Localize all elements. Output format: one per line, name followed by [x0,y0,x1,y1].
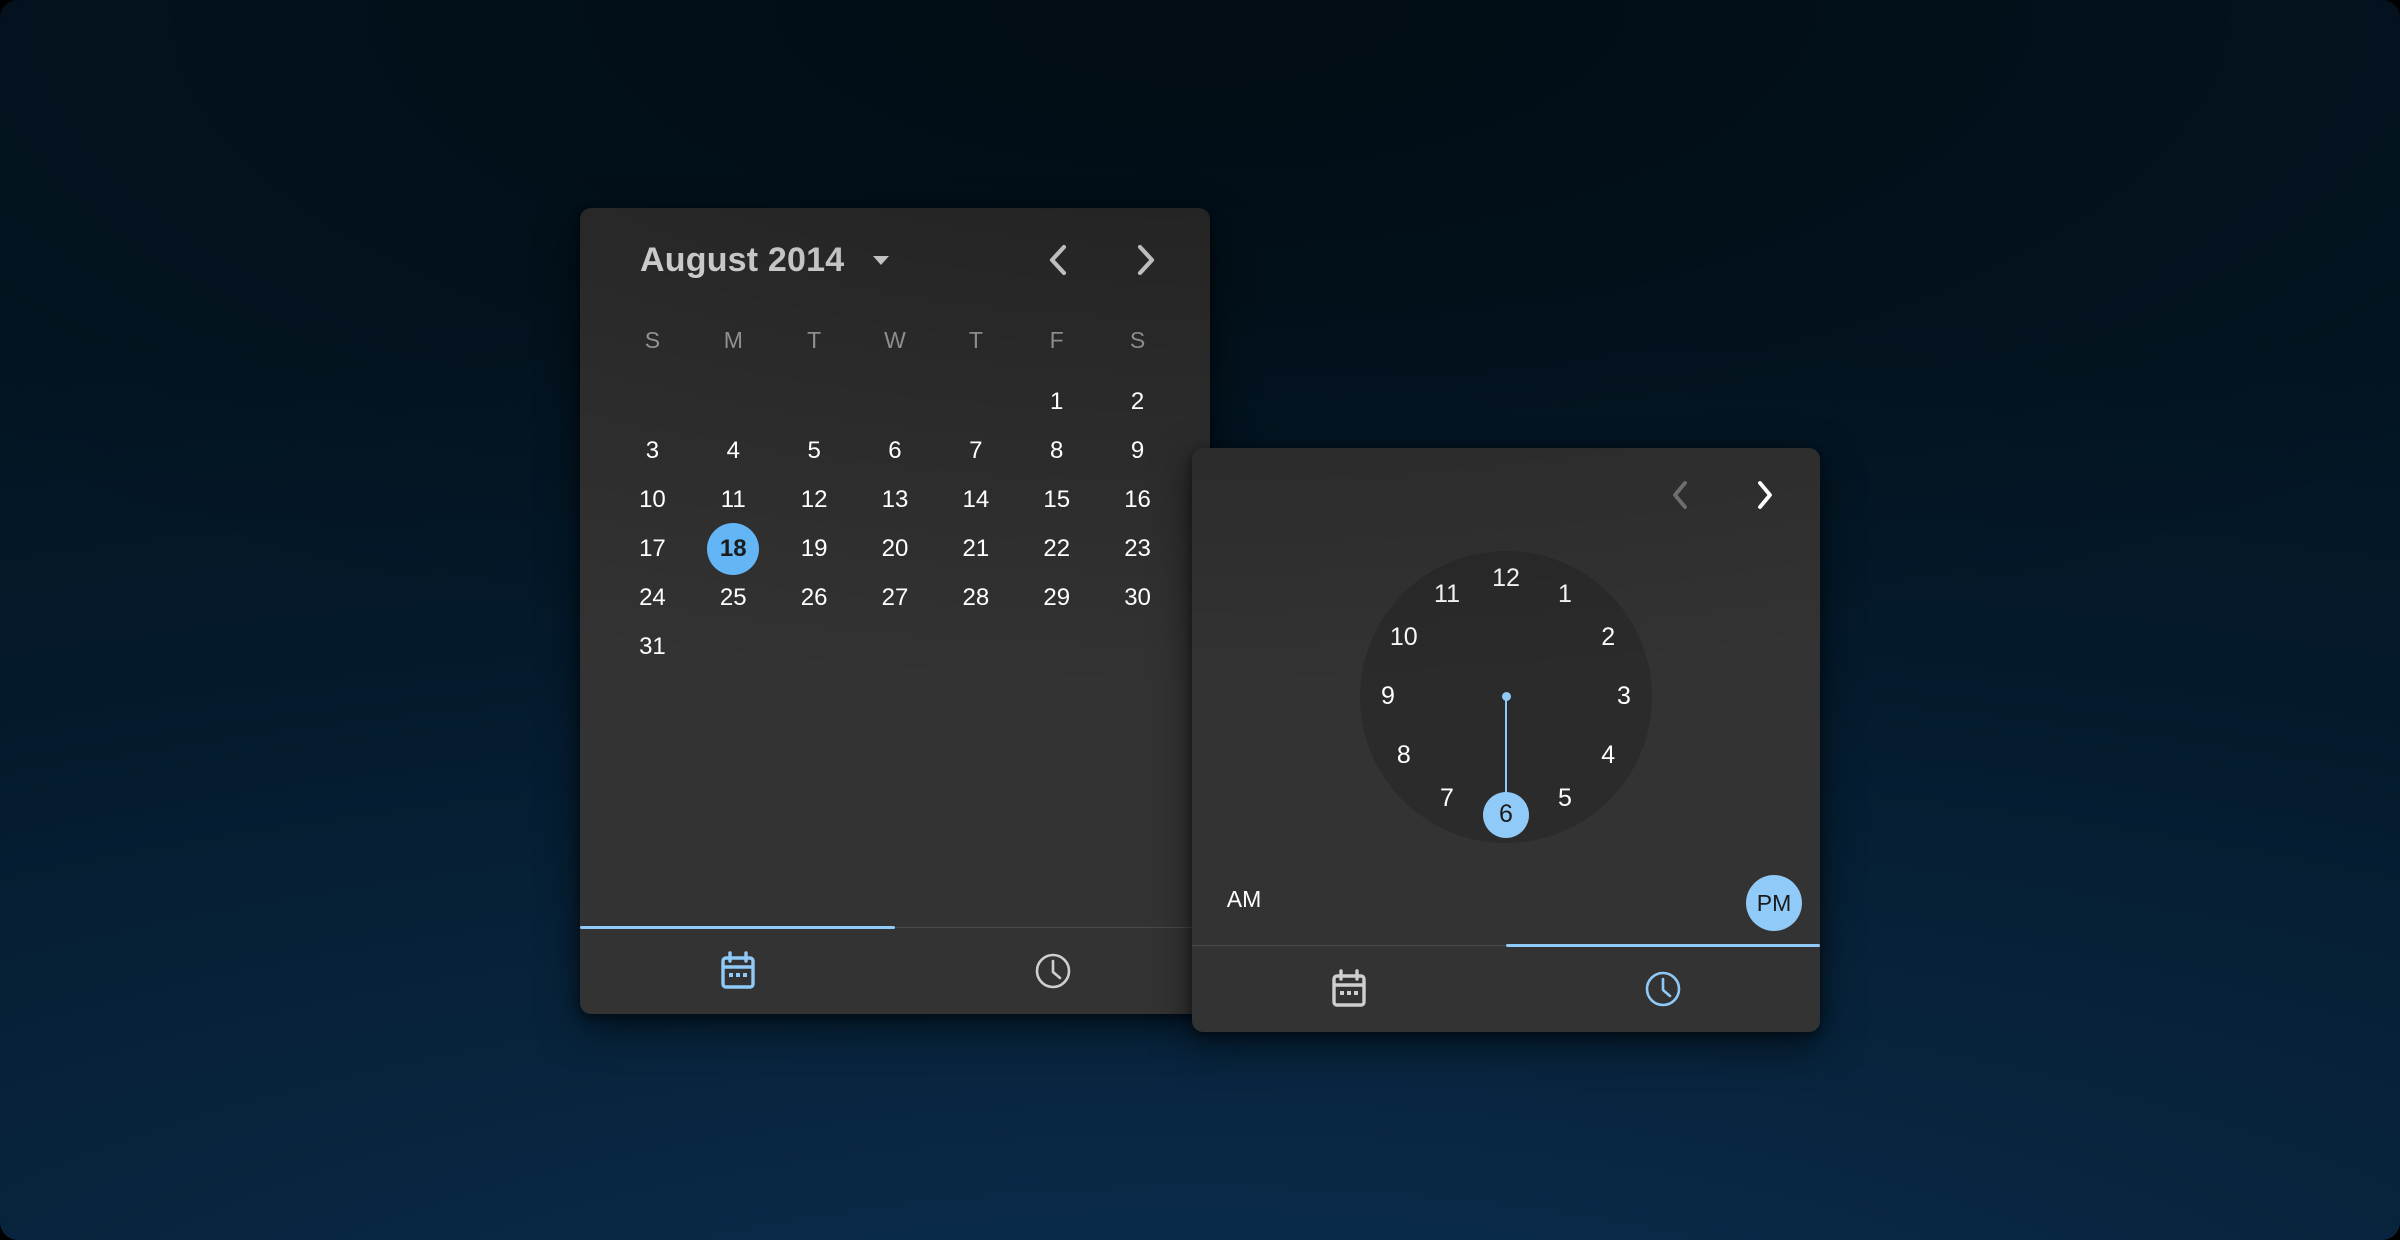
calendar-day-label [788,621,840,673]
clock-hour-label: 8 [1397,741,1411,770]
pm-button[interactable]: PM [1746,875,1802,931]
clock-hour-label: 1 [1558,580,1572,609]
clock-hour-1[interactable]: 1 [1542,571,1588,617]
desktop-backdrop: August 2014 SMTWTFS 12345678910111213141… [0,0,2400,1240]
clock-hour-6[interactable]: 6 [1483,792,1529,838]
calendar-icon [719,951,757,991]
calendar-day-cell[interactable]: 23 [1097,523,1178,575]
calendar-day-cell[interactable]: 9 [1097,425,1178,477]
calendar-day-empty [612,376,693,428]
calendar-day-cell[interactable]: 10 [612,474,693,526]
calendar-day-label: 22 [1031,523,1083,575]
clock-hour-label: 6 [1499,800,1513,829]
am-label: AM [1227,886,1262,913]
calendar-month-year-label: August 2014 [640,241,844,280]
calendar-day-label: 19 [788,523,840,575]
tab-clock[interactable] [895,928,1210,1014]
clock-hour-12[interactable]: 12 [1483,556,1529,602]
calendar-day-cell[interactable]: 31 [612,621,693,673]
calendar-day-cell[interactable]: 19 [774,523,855,575]
calendar-day-label [869,621,921,673]
weekday-label: F [1016,312,1097,368]
clock-hour-11[interactable]: 11 [1424,571,1470,617]
calendar-week-row: 3456789 [580,425,1210,474]
date-picker-dialog: August 2014 SMTWTFS 12345678910111213141… [580,208,1210,1014]
weekday-label: T [935,312,1016,368]
calendar-day-label: 3 [626,425,678,477]
calendar-day-label: 6 [869,425,921,477]
clock-hour-7[interactable]: 7 [1424,776,1470,822]
calendar-day-label: 4 [707,425,759,477]
clock-hour-label: 9 [1381,682,1395,711]
clock-face[interactable]: 121234567891011 [1360,551,1652,843]
calendar-day-cell[interactable]: 3 [612,425,693,477]
clock-hour-label: 10 [1390,623,1418,652]
calendar-day-label: 9 [1112,425,1164,477]
calendar-day-empty [693,376,774,428]
calendar-day-cell[interactable]: 7 [935,425,1016,477]
calendar-day-cell[interactable]: 29 [1016,572,1097,624]
calendar-day-cell[interactable]: 27 [855,572,936,624]
calendar-day-cell[interactable]: 12 [774,474,855,526]
clock-hour-label: 12 [1492,564,1520,593]
calendar-day-label: 11 [707,474,759,526]
weekday-label: S [612,312,693,368]
clock-hour-label: 4 [1601,741,1615,770]
calendar-bottom-spacer [580,670,1210,927]
calendar-day-label: 12 [788,474,840,526]
calendar-day-label: 29 [1031,572,1083,624]
calendar-day-label: 24 [626,572,678,624]
clock-icon [1643,969,1683,1009]
calendar-day-label: 7 [950,425,1002,477]
chevron-down-icon[interactable] [870,249,892,271]
calendar-day-label: 16 [1112,474,1164,526]
calendar-day-label: 26 [788,572,840,624]
calendar-day-empty [1016,621,1097,673]
calendar-day-label: 17 [626,523,678,575]
clock-hour-label: 2 [1601,623,1615,652]
calendar-week-row: 17181920212223 [580,523,1210,572]
calendar-day-cell[interactable]: 17 [612,523,693,575]
calendar-week-row: 31 [580,621,1210,670]
calendar-day-label: 10 [626,474,678,526]
calendar-day-cell[interactable]: 16 [1097,474,1178,526]
previous-time-button[interactable] [1652,466,1710,524]
calendar-day-label: 27 [869,572,921,624]
pm-label: PM [1757,890,1792,917]
calendar-day-empty [1097,621,1178,673]
calendar-day-cell[interactable]: 8 [1016,425,1097,477]
calendar-header: August 2014 [580,208,1210,312]
calendar-day-label [707,376,759,428]
calendar-day-empty [855,621,936,673]
tab-calendar[interactable] [1192,946,1506,1032]
calendar-day-cell[interactable]: 4 [693,425,774,477]
calendar-day-cell[interactable]: 22 [1016,523,1097,575]
calendar-day-cell[interactable]: 30 [1097,572,1178,624]
calendar-day-label [1031,621,1083,673]
clock-hour-2[interactable]: 2 [1585,615,1631,661]
calendar-day-cell[interactable]: 5 [774,425,855,477]
calendar-day-cell[interactable]: 26 [774,572,855,624]
calendar-day-label: 30 [1112,572,1164,624]
calendar-day-label [1112,621,1164,673]
clock-hour-8[interactable]: 8 [1381,733,1427,779]
clock-hour-label: 7 [1440,784,1454,813]
calendar-day-label: 2 [1112,376,1164,428]
calendar-day-empty [935,376,1016,428]
tab-calendar[interactable] [580,928,895,1014]
calendar-day-label: 14 [950,474,1002,526]
calendar-day-label [707,621,759,673]
calendar-icon [1330,969,1368,1009]
weekday-header-row: SMTWTFS [580,312,1210,368]
calendar-day-cell[interactable]: 1 [1016,376,1097,428]
calendar-day-label: 21 [950,523,1002,575]
calendar-week-row: 24252627282930 [580,572,1210,621]
calendar-day-grid: 1234567891011121314151617181920212223242… [580,368,1210,670]
calendar-day-cell[interactable]: 20 [855,523,936,575]
calendar-day-label [626,376,678,428]
clock-hour-4[interactable]: 4 [1585,733,1631,779]
calendar-day-cell[interactable]: 11 [693,474,774,526]
calendar-day-cell[interactable]: 25 [693,572,774,624]
calendar-day-cell[interactable]: 14 [935,474,1016,526]
calendar-day-cell[interactable]: 2 [1097,376,1178,428]
clock-hour-10[interactable]: 10 [1381,615,1427,661]
weekday-label: W [855,312,936,368]
calendar-day-label: 5 [788,425,840,477]
clock-hour-5[interactable]: 5 [1542,776,1588,822]
calendar-day-label [950,621,1002,673]
calendar-day-cell[interactable]: 24 [612,572,693,624]
next-time-button[interactable] [1736,466,1794,524]
calendar-day-label: 23 [1112,523,1164,575]
calendar-day-label: 15 [1031,474,1083,526]
tab-active-indicator [580,926,895,929]
calendar-day-empty [693,621,774,673]
clock-hour-label: 11 [1434,580,1460,609]
time-picker-tabstrip [1192,945,1820,1032]
date-picker-tabstrip [580,927,1210,1014]
calendar-day-label: 25 [707,572,759,624]
calendar-day-label: 18 [707,523,759,575]
calendar-day-label: 1 [1031,376,1083,428]
clock-icon [1033,951,1073,991]
calendar-day-label [950,376,1002,428]
clock-area: 121234567891011 AM PM [1192,448,1820,945]
weekday-label: S [1097,312,1178,368]
calendar-day-empty [935,621,1016,673]
calendar-day-cell[interactable]: 6 [855,425,936,477]
clock-hour-label: 3 [1617,682,1631,711]
calendar-day-empty [774,621,855,673]
calendar-day-label: 8 [1031,425,1083,477]
clock-navigation [1652,466,1794,524]
calendar-week-row: 12 [580,376,1210,425]
calendar-day-label: 31 [626,621,678,673]
calendar-day-cell[interactable]: 15 [1016,474,1097,526]
calendar-day-empty [855,376,936,428]
calendar-day-cell[interactable]: 28 [935,572,1016,624]
clock-center-dot [1502,692,1511,701]
time-picker-dialog: 121234567891011 AM PM [1192,448,1820,1032]
calendar-day-cell[interactable]: 13 [855,474,936,526]
am-button[interactable]: AM [1216,871,1272,927]
calendar-day-label: 13 [869,474,921,526]
tab-active-indicator [1506,944,1820,947]
calendar-day-cell[interactable]: 21 [935,523,1016,575]
weekday-label: T [774,312,855,368]
calendar-day-label [869,376,921,428]
clock-hour-label: 5 [1558,784,1572,813]
calendar-day-empty [774,376,855,428]
tab-clock[interactable] [1506,946,1820,1032]
clock-hour-3[interactable]: 3 [1601,674,1647,720]
weekday-label: M [693,312,774,368]
calendar-day-label: 28 [950,572,1002,624]
calendar-day-label [788,376,840,428]
next-month-button[interactable] [1116,231,1174,289]
calendar-day-cell[interactable]: 18 [693,523,774,575]
previous-month-button[interactable] [1030,231,1088,289]
calendar-day-label: 20 [869,523,921,575]
clock-hour-9[interactable]: 9 [1365,674,1411,720]
calendar-week-row: 10111213141516 [580,474,1210,523]
